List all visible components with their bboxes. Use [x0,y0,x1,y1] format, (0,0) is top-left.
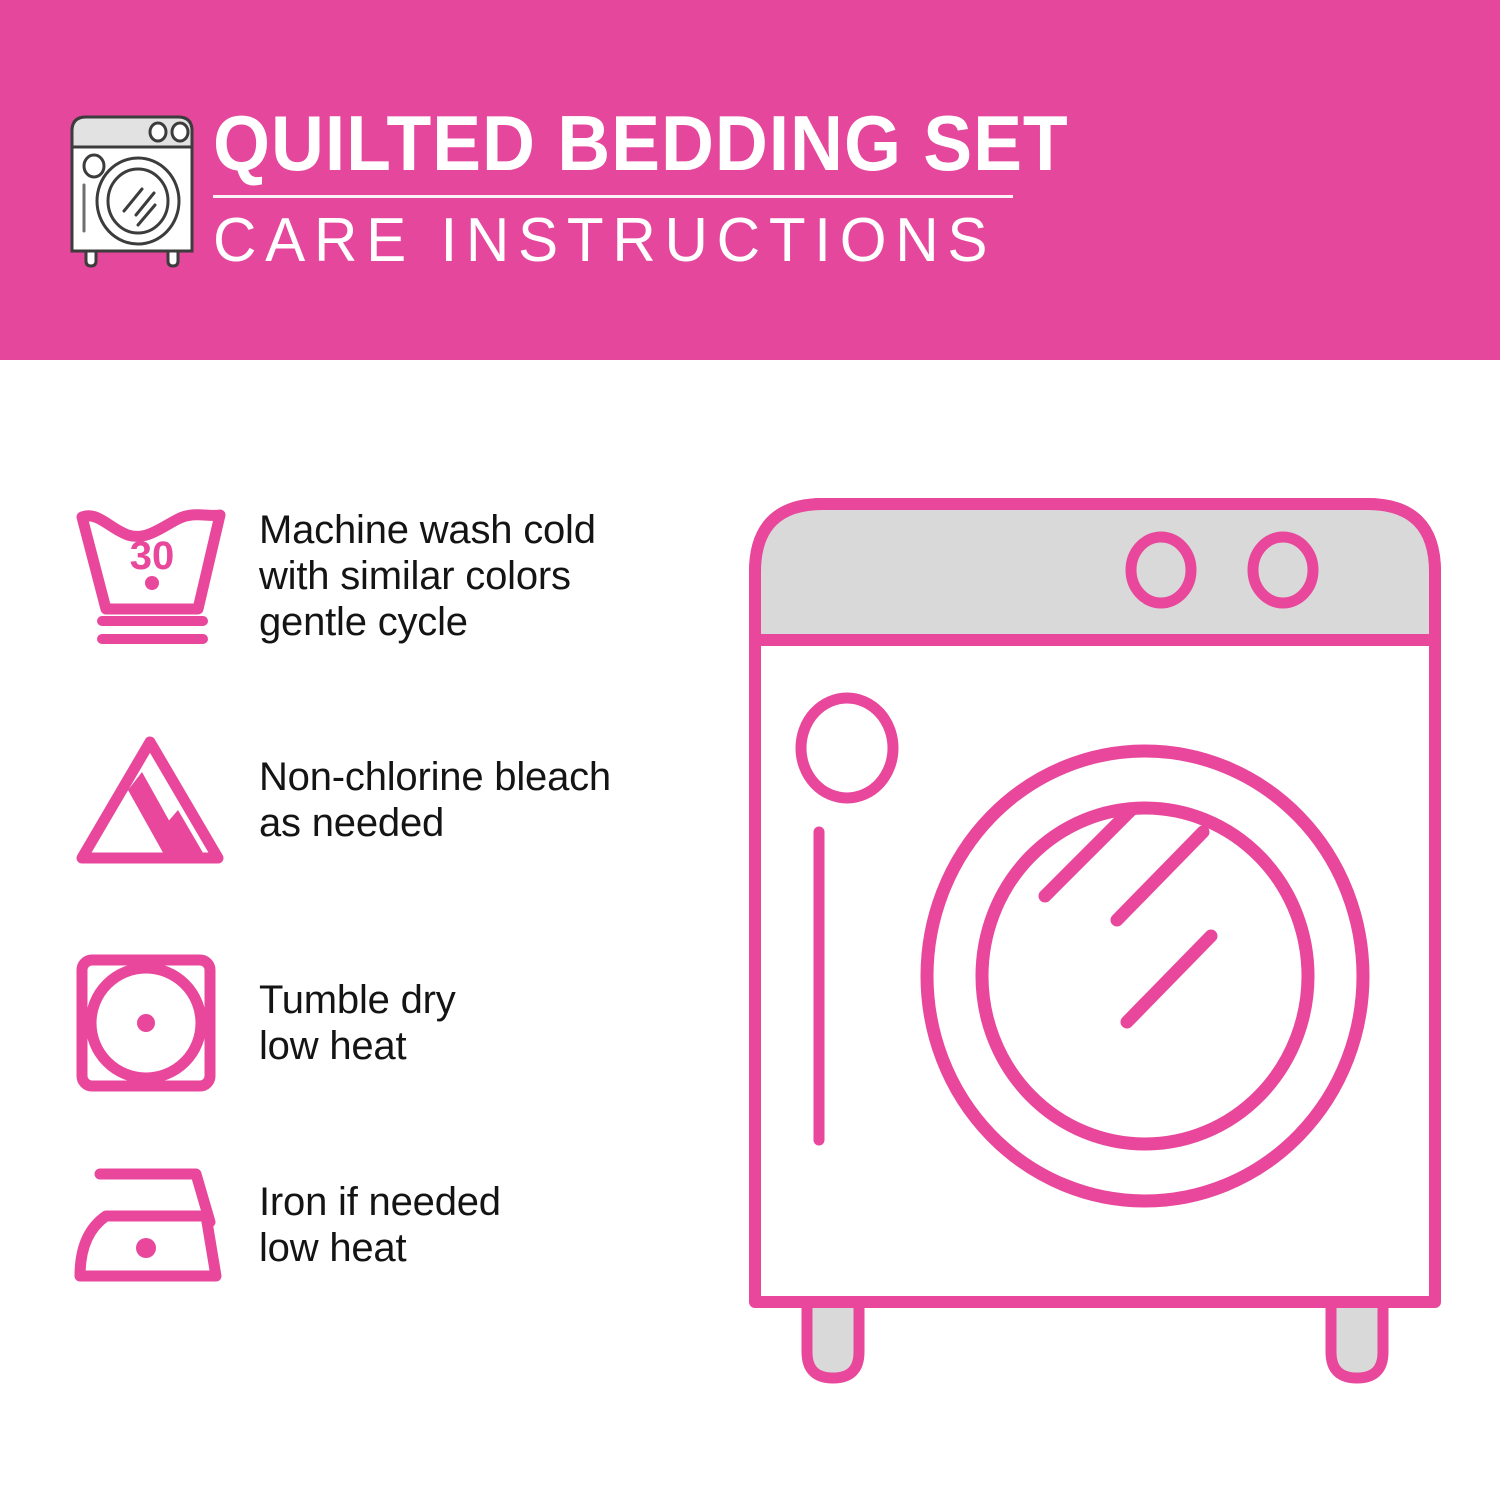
leg-right [1331,1300,1383,1378]
care-text-bleach: Non-chlorine bleach as needed [245,754,611,846]
care-row-tumble-dry: Tumble dry low heat [70,950,710,1095]
washing-machine-logo-icon [62,103,202,268]
care-text-line: gentle cycle [259,599,596,645]
care-text-line: low heat [259,1023,456,1069]
care-instructions-list: 30 Machine wash cold with similar colors… [0,360,740,1500]
care-text-line: Non-chlorine bleach [259,754,611,800]
care-text-line: Iron if needed [259,1179,501,1225]
care-text-tumble-dry: Tumble dry low heat [245,977,456,1069]
header-text-block: QUILTED BEDDING SET CARE INSTRUCTIONS [213,100,1023,278]
wash-tub-30-icon: 30 [70,505,245,647]
tumble-dry-icon [70,950,245,1095]
bleach-triangle-icon [70,730,245,870]
care-instructions-page: QUILTED BEDDING SET CARE INSTRUCTIONS 30 [0,0,1500,1500]
svg-text:30: 30 [130,534,175,578]
care-text-line: Tumble dry [259,977,456,1023]
page-subtitle: CARE INSTRUCTIONS [213,204,999,278]
front-load-washing-machine-illustration [735,480,1455,1420]
care-row-iron: Iron if needed low heat [70,1160,710,1290]
care-text-line: as needed [259,800,611,846]
care-text-iron: Iron if needed low heat [245,1179,501,1271]
care-row-wash: 30 Machine wash cold with similar colors… [70,505,710,647]
leg-left [807,1300,859,1378]
care-text-line: Machine wash cold [259,507,596,553]
title-divider [213,195,1013,198]
page-header: QUILTED BEDDING SET CARE INSTRUCTIONS [0,0,1500,360]
care-text-line: with similar colors [259,553,596,599]
page-title: QUILTED BEDDING SET [213,100,974,186]
care-text-line: low heat [259,1225,501,1271]
care-row-bleach: Non-chlorine bleach as needed [70,730,710,870]
iron-icon [70,1160,245,1290]
care-text-wash: Machine wash cold with similar colors ge… [245,507,596,645]
